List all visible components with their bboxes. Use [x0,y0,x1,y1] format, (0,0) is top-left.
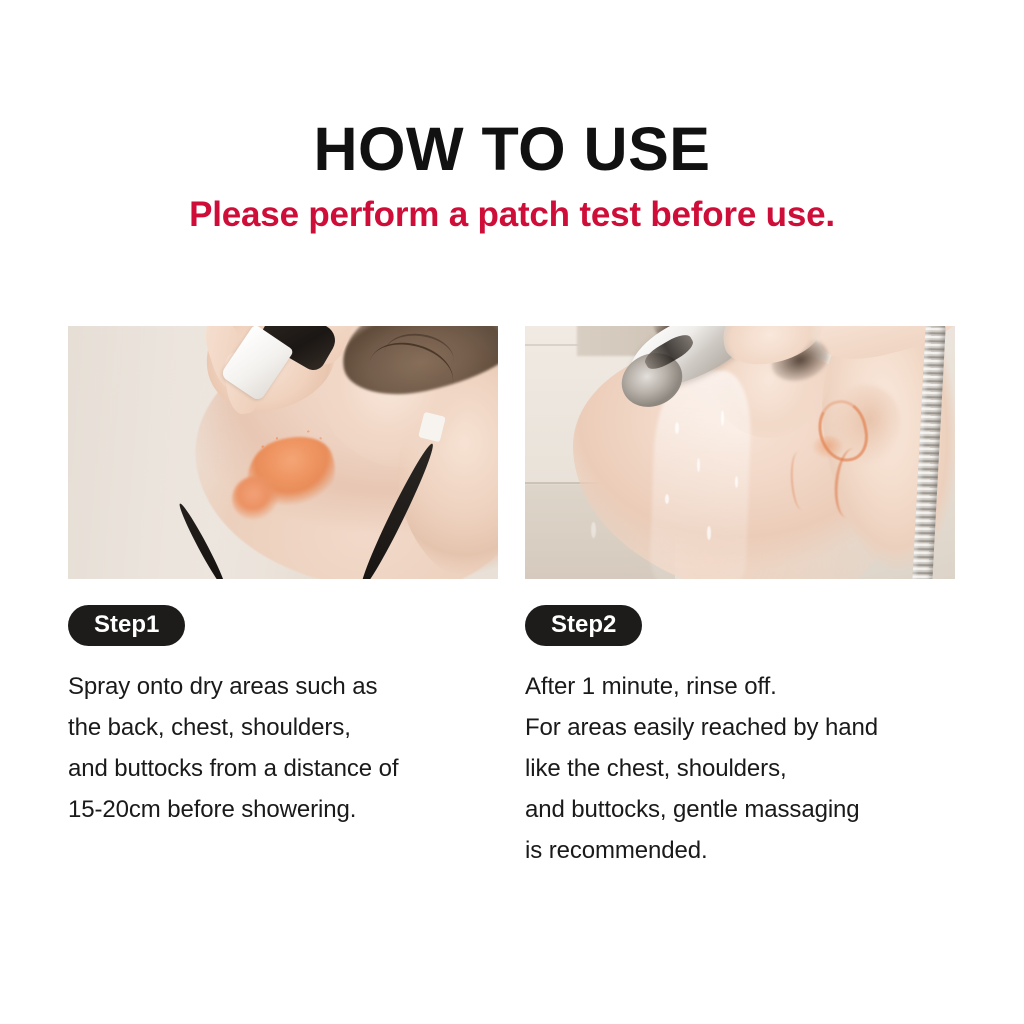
water-droplet [721,410,724,426]
step-2-badge: Step2 [525,605,642,646]
step-1-badge: Step1 [68,605,185,646]
patch-test-warning: Please perform a patch test before use. [0,197,1024,232]
step-1-photo [68,326,498,579]
step-2-column: Step2 After 1 minute, rinse off. For are… [525,326,955,895]
steps-container: Step1 Spray onto dry areas such as the b… [68,326,956,895]
how-to-use-page: HOW TO USE Please perform a patch test b… [0,0,1024,1024]
step-2-photo [525,326,955,579]
water-droplet [591,522,596,538]
water-droplet [735,476,738,488]
page-title: HOW TO USE [0,119,1024,180]
water-droplet [707,526,711,540]
step-1-instructions: Spray onto dry areas such as the back, c… [68,666,498,830]
water-droplet [675,422,679,434]
water-droplet [697,458,700,472]
water-droplet [665,494,669,504]
step-2-instructions: After 1 minute, rinse off. For areas eas… [525,666,955,871]
step-1-column: Step1 Spray onto dry areas such as the b… [68,326,498,895]
